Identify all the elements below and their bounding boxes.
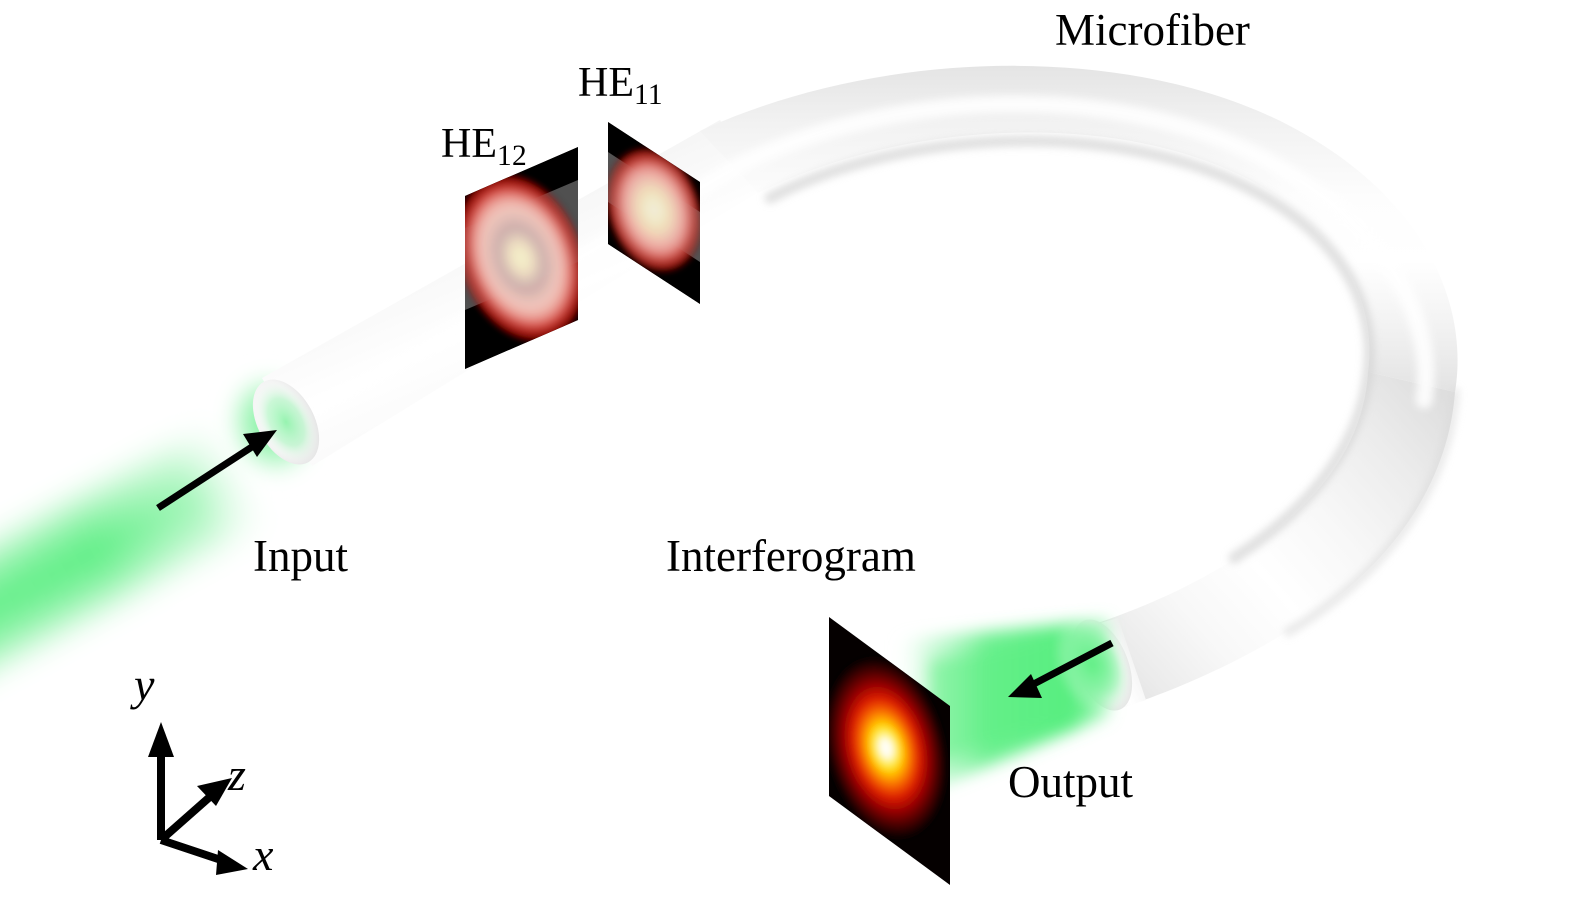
axis-arrow-x — [161, 840, 248, 875]
figure-root: Microfiber HE11 HE12 Input Interferogram… — [0, 0, 1575, 906]
label-he11-base: HE — [578, 60, 634, 106]
axis-arrow-z — [161, 778, 232, 840]
axis-label-x: x — [253, 832, 273, 878]
axis-label-y: y — [134, 662, 154, 708]
label-he12-base: HE — [441, 121, 497, 167]
microfiber-tube — [239, 66, 1457, 719]
axis-arrow-y — [148, 722, 174, 840]
label-he11: HE11 — [578, 62, 663, 111]
fiber-inner-shadow — [770, 141, 1370, 558]
label-microfiber: Microfiber — [1055, 8, 1250, 53]
axis-label-z: z — [228, 752, 246, 798]
label-he12-subscript: 12 — [497, 140, 527, 172]
label-output: Output — [1008, 760, 1133, 805]
label-input: Input — [253, 534, 348, 579]
label-he11-subscript: 11 — [634, 79, 663, 111]
label-interferogram: Interferogram — [666, 534, 916, 579]
label-he12: HE12 — [441, 123, 527, 172]
